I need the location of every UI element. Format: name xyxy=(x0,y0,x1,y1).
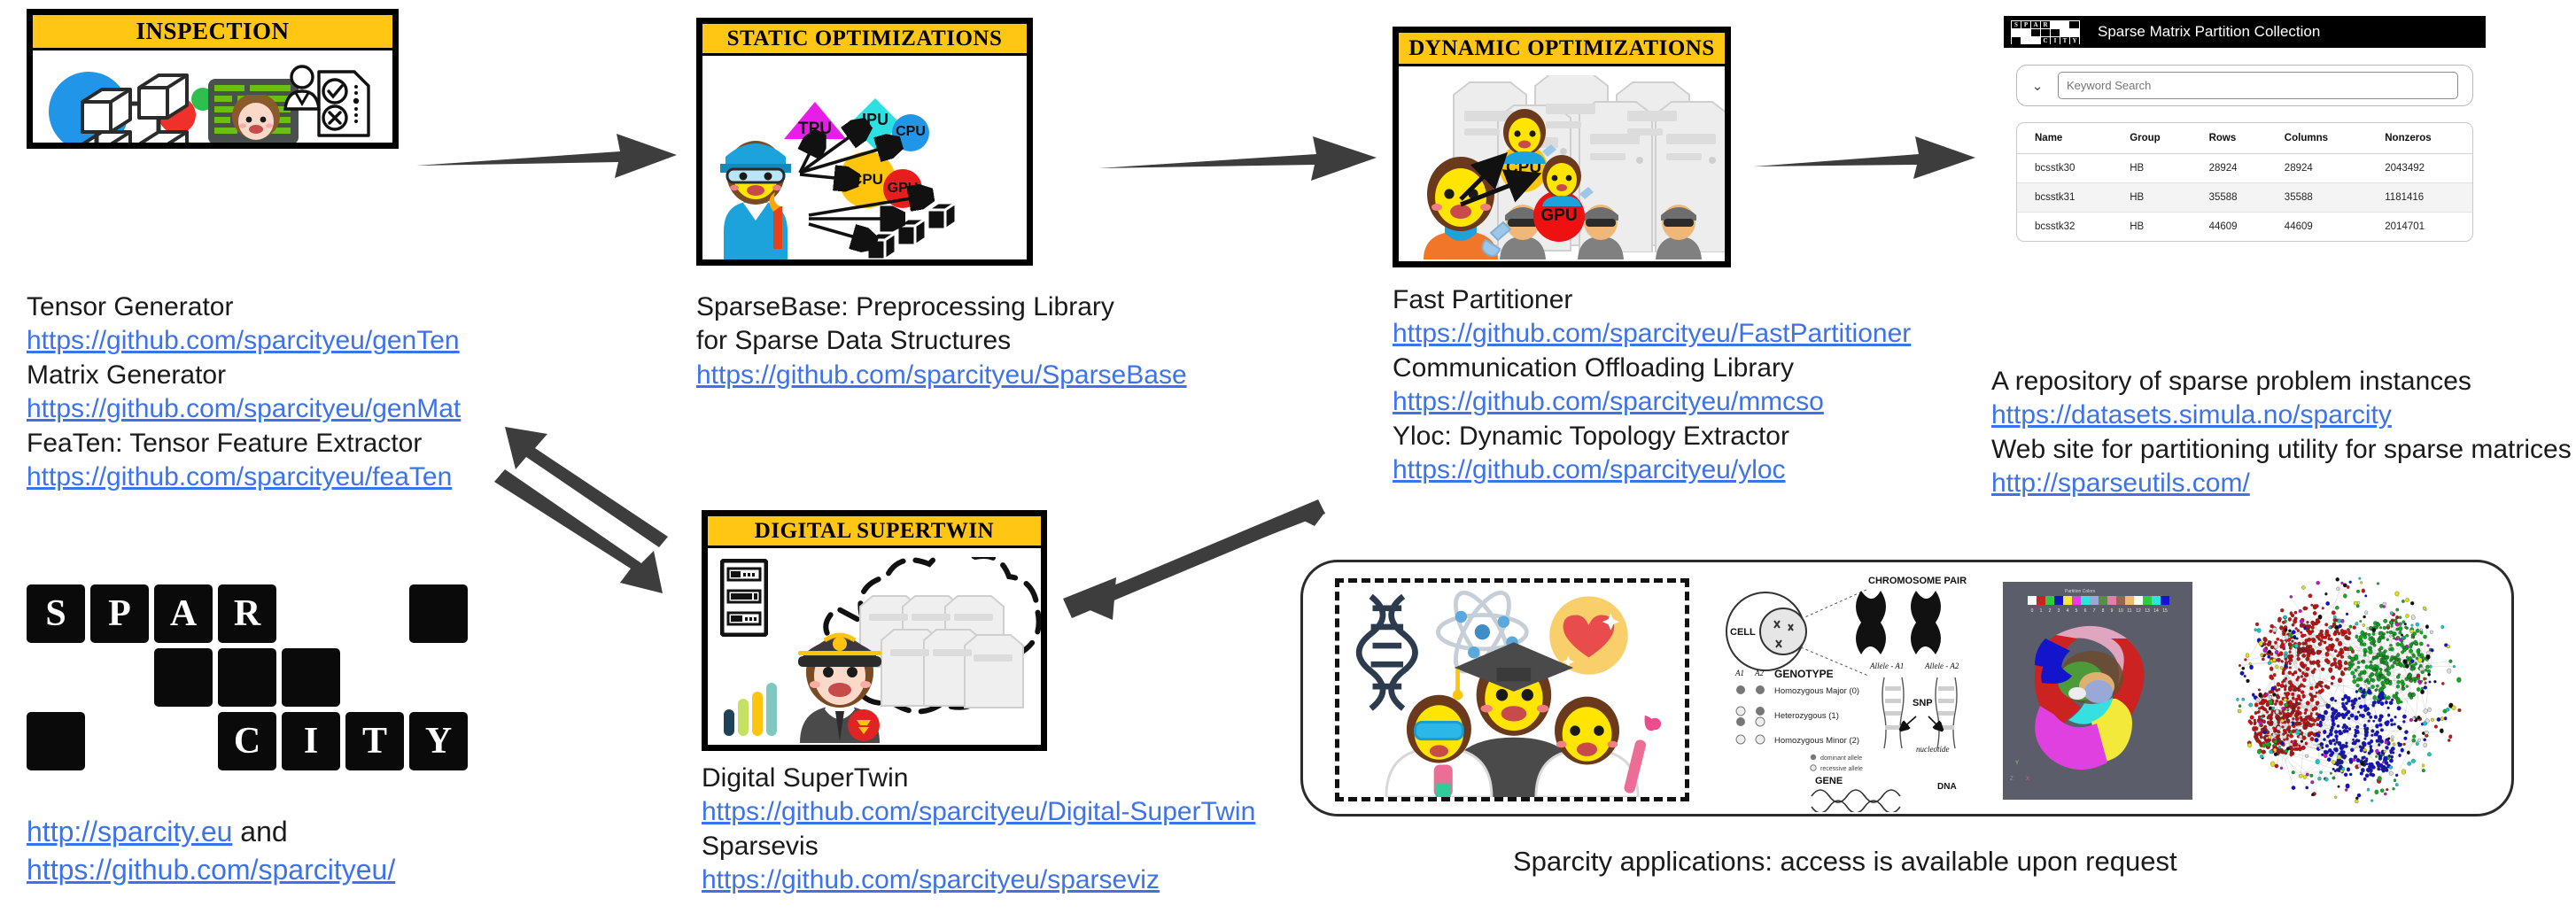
caption-line: Digital SuperTwin xyxy=(702,762,1251,795)
cube-graph-icon xyxy=(75,72,226,143)
svg-text:7: 7 xyxy=(2093,608,2096,614)
logo-block-s: S xyxy=(27,584,85,643)
link-simula-datasets[interactable]: https://datasets.simula.no/sparcity xyxy=(1991,399,2392,432)
caption-line: Web site for partitioning utility for sp… xyxy=(1991,433,2558,467)
captain-person-icon xyxy=(782,617,897,743)
applications-card: CHROMOSOME PAIR CELL Allele - A1 Allele … xyxy=(1300,560,2514,817)
caption-line: Matrix Generator xyxy=(27,359,487,392)
svg-text:Homozygous Major (0): Homozygous Major (0) xyxy=(1774,686,1859,696)
brand-and-text: and xyxy=(232,816,287,847)
panel-static-illustration: TPU IPU CPU CPU GPU xyxy=(702,56,1027,259)
logo-block-p: P xyxy=(90,584,149,643)
table-row[interactable]: bcsstk32 HB 44609 44609 2014701 xyxy=(2017,213,2472,242)
logo-block-r: R xyxy=(218,584,276,643)
bar-chart-icon xyxy=(724,679,779,736)
col-nonzeros[interactable]: Nonzeros xyxy=(2367,123,2472,154)
panel-dynamic-illustration: CPU GPU xyxy=(1399,66,1725,261)
svg-text:A2: A2 xyxy=(1754,669,1764,677)
matrix-table-wrapper: Name Group Rows Columns Nonzeros bcsstk3… xyxy=(2016,122,2473,242)
svg-text:SNP: SNP xyxy=(1913,698,1933,708)
cell-nonzeros: 2014701 xyxy=(2367,213,2472,242)
link-sparseviz[interactable]: https://github.com/sparcityeu/sparseviz xyxy=(702,863,1160,897)
cell-nonzeros: 2043492 xyxy=(2367,154,2472,183)
svg-text:5: 5 xyxy=(2076,608,2078,614)
svg-text:14: 14 xyxy=(2153,608,2159,614)
dispatch-arrows-icon xyxy=(772,104,949,259)
svg-text:4: 4 xyxy=(2067,608,2069,614)
logo-block-empty-5 xyxy=(27,712,85,770)
svg-text:15: 15 xyxy=(2162,608,2168,614)
caption-line: SparseBase: Preprocessing Library xyxy=(696,290,1192,324)
arrow-static-to-dynamic xyxy=(1097,122,1389,184)
link-digital-supertwin[interactable]: https://github.com/sparcityeu/Digital-Su… xyxy=(702,795,1255,829)
brand-links: http://sparcity.eu and https://github.co… xyxy=(27,813,487,889)
svg-text:Heterozygous (1): Heterozygous (1) xyxy=(1774,711,1839,721)
panel-supertwin-title: DIGITAL SUPERTWIN xyxy=(708,516,1041,548)
sparcity-mini-logo-icon: S P A R C I T Y xyxy=(2007,16,2083,48)
rack-icon xyxy=(720,559,768,637)
svg-text:11: 11 xyxy=(2127,608,2131,614)
applications-caption: Sparcity applications: access is availab… xyxy=(1513,846,2177,878)
scientists-illustration-thumb xyxy=(1335,578,1689,801)
caption-line: for Sparse Data Structures xyxy=(696,324,1192,358)
heart-mesh-partition-thumb: Partition Colors xyxy=(2003,582,2192,800)
svg-text:9: 9 xyxy=(2111,608,2114,614)
caption-line: Communication Offloading Library xyxy=(1393,352,1942,385)
caption-line: FeaTen: Tensor Feature Extractor xyxy=(27,427,487,460)
link-github-sparcityeu[interactable]: https://github.com/sparcityeu/ xyxy=(27,851,395,889)
panel-static-title: STATIC OPTIMIZATIONS xyxy=(702,24,1027,56)
webapp-title: Sparse Matrix Partition Collection xyxy=(2098,23,2320,41)
svg-text:6: 6 xyxy=(2084,608,2087,614)
svg-text:Y: Y xyxy=(2015,761,2019,766)
caption-dynamic: Fast Partitioner https://github.com/spar… xyxy=(1393,283,1942,487)
col-columns[interactable]: Columns xyxy=(2267,123,2367,154)
cell-nonzeros: 1181416 xyxy=(2367,183,2472,213)
cell-columns: 28924 xyxy=(2267,154,2367,183)
logo-block-c: C xyxy=(218,712,276,770)
svg-text:2: 2 xyxy=(2049,608,2052,614)
link-sparsebase[interactable]: https://github.com/sparcityeu/SparseBase xyxy=(696,359,1187,392)
logo-block-empty-3 xyxy=(218,648,276,707)
sparse-matrix-partition-collection-app: S P A R C I T Y Sparse Matrix Partition … xyxy=(2004,16,2486,328)
caption-webapp: A repository of sparse problem instances… xyxy=(1991,365,2558,501)
svg-text:0: 0 xyxy=(2031,608,2034,614)
svg-text:nucleotide: nucleotide xyxy=(1916,745,1950,754)
logo-block-i: I xyxy=(282,712,340,770)
svg-text:10: 10 xyxy=(2118,608,2123,614)
svg-text:12: 12 xyxy=(2136,608,2141,614)
table-header-row: Name Group Rows Columns Nonzeros xyxy=(2017,123,2472,154)
cell-name: bcsstk32 xyxy=(2017,213,2112,242)
svg-text:3: 3 xyxy=(2058,608,2060,614)
svg-text:Allele - A2: Allele - A2 xyxy=(1924,662,1959,670)
logo-block-empty-4 xyxy=(282,648,340,707)
cell-columns: 35588 xyxy=(2267,183,2367,213)
svg-text:Partition Colors: Partition Colors xyxy=(2065,589,2096,594)
search-bar: ⌄ xyxy=(2016,65,2473,106)
sparcity-logo: S P A R C I T Y xyxy=(27,584,434,779)
panel-inspection-illustration xyxy=(33,50,392,143)
logo-block-t: T xyxy=(345,712,404,770)
caption-line: Tensor Generator xyxy=(27,290,487,324)
link-yloc[interactable]: https://github.com/sparcityeu/yloc xyxy=(1393,453,1786,487)
cell-name: bcsstk30 xyxy=(2017,154,2112,183)
panel-digital-supertwin: DIGITAL SUPERTWIN xyxy=(702,510,1047,751)
caption-line: Yloc: Dynamic Topology Extractor xyxy=(1393,420,1942,453)
panel-static-optimizations: STATIC OPTIMIZATIONS TPU IPU xyxy=(696,18,1033,266)
caption-inspection: Tensor Generator https://github.com/spar… xyxy=(27,290,487,494)
caption-supertwin: Digital SuperTwin https://github.com/spa… xyxy=(702,762,1251,898)
col-group[interactable]: Group xyxy=(2112,123,2191,154)
svg-text:recessive allele: recessive allele xyxy=(1820,766,1863,772)
logo-block-empty-1 xyxy=(409,584,468,643)
link-sparcity-eu[interactable]: http://sparcity.eu xyxy=(27,813,232,851)
svg-text:Z: Z xyxy=(2010,777,2013,782)
svg-text:X: X xyxy=(2026,777,2029,782)
cell-rows: 28924 xyxy=(2192,154,2267,183)
caption-line: Fast Partitioner xyxy=(1393,283,1942,317)
webapp-header: S P A R C I T Y Sparse Matrix Partition … xyxy=(2004,16,2486,48)
cell-group: HB xyxy=(2112,154,2191,183)
assignment-arrows-icon xyxy=(1457,141,1563,221)
svg-text:DNA: DNA xyxy=(1937,782,1957,792)
logo-block-empty-2 xyxy=(154,648,213,707)
link-genten[interactable]: https://github.com/sparcityeu/genTen xyxy=(27,324,460,358)
link-featen[interactable]: https://github.com/sparcityeu/feaTen xyxy=(27,460,452,494)
cell-columns: 44609 xyxy=(2267,213,2367,242)
svg-text:1: 1 xyxy=(2040,608,2043,614)
arrow-inspection-to-static xyxy=(415,120,689,182)
panel-dynamic-optimizations: DYNAMIC OPTIMIZATIONS xyxy=(1393,27,1731,267)
col-rows[interactable]: Rows xyxy=(2192,123,2267,154)
applications-thumbnails: CHROMOSOME PAIR CELL Allele - A1 Allele … xyxy=(1303,562,2511,814)
logo-block-y: Y xyxy=(409,712,468,770)
cell-rows: 35588 xyxy=(2192,183,2267,213)
caption-line: A repository of sparse problem instances xyxy=(1991,365,2558,399)
link-fastpartitioner[interactable]: https://github.com/sparcityeu/FastPartit… xyxy=(1393,317,1911,351)
svg-text:GENE: GENE xyxy=(1815,776,1843,786)
panel-inspection-title: INSPECTION xyxy=(33,15,392,50)
graph-network-partition-thumb xyxy=(2215,569,2481,810)
svg-text:A1: A1 xyxy=(1734,669,1744,677)
logo-block-a: A xyxy=(154,584,213,643)
matrix-table: Name Group Rows Columns Nonzeros bcsstk3… xyxy=(2017,123,2472,241)
svg-text:GENOTYPE: GENOTYPE xyxy=(1774,668,1834,680)
svg-text:dominant allele: dominant allele xyxy=(1820,755,1862,762)
table-row[interactable]: bcsstk31 HB 35588 35588 1181416 xyxy=(2017,183,2472,213)
svg-text:8: 8 xyxy=(2102,608,2105,614)
panel-inspection: INSPECTION xyxy=(27,9,399,149)
col-name[interactable]: Name xyxy=(2017,123,2112,154)
svg-text:CELL: CELL xyxy=(1730,627,1756,638)
svg-text:Homozygous Minor (2): Homozygous Minor (2) xyxy=(1774,736,1859,746)
panel-supertwin-illustration xyxy=(708,548,1041,745)
cell-rows: 44609 xyxy=(2192,213,2267,242)
link-genmat[interactable]: https://github.com/sparcityeu/genMat xyxy=(27,392,461,426)
svg-text:CHROMOSOME PAIR: CHROMOSOME PAIR xyxy=(1868,576,1967,586)
caption-static: SparseBase: Preprocessing Library for Sp… xyxy=(696,290,1192,392)
svg-text:Allele - A1: Allele - A1 xyxy=(1869,662,1904,670)
caption-line: Sparsevis xyxy=(702,830,1251,863)
arrow-dynamic-to-webapp xyxy=(1752,124,1982,182)
link-mmcso[interactable]: https://github.com/sparcityeu/mmcso xyxy=(1393,385,1824,419)
genomics-snp-diagram-thumb: CHROMOSOME PAIR CELL Allele - A1 Allele … xyxy=(1719,569,1976,812)
table-row[interactable]: bcsstk30 HB 28924 28924 2043492 xyxy=(2017,154,2472,183)
link-sparseutils[interactable]: http://sparseutils.com/ xyxy=(1991,467,2250,500)
cell-group: HB xyxy=(2112,183,2191,213)
keyword-search-input[interactable] xyxy=(2058,72,2458,99)
panel-dynamic-title: DYNAMIC OPTIMIZATIONS xyxy=(1399,33,1725,66)
analyst-person-icon xyxy=(221,95,291,143)
audit-checklist-icon xyxy=(283,63,377,139)
cell-name: bcsstk31 xyxy=(2017,183,2112,213)
chevron-down-icon[interactable]: ⌄ xyxy=(2017,78,2058,94)
svg-text:13: 13 xyxy=(2145,608,2150,614)
cell-group: HB xyxy=(2112,213,2191,242)
